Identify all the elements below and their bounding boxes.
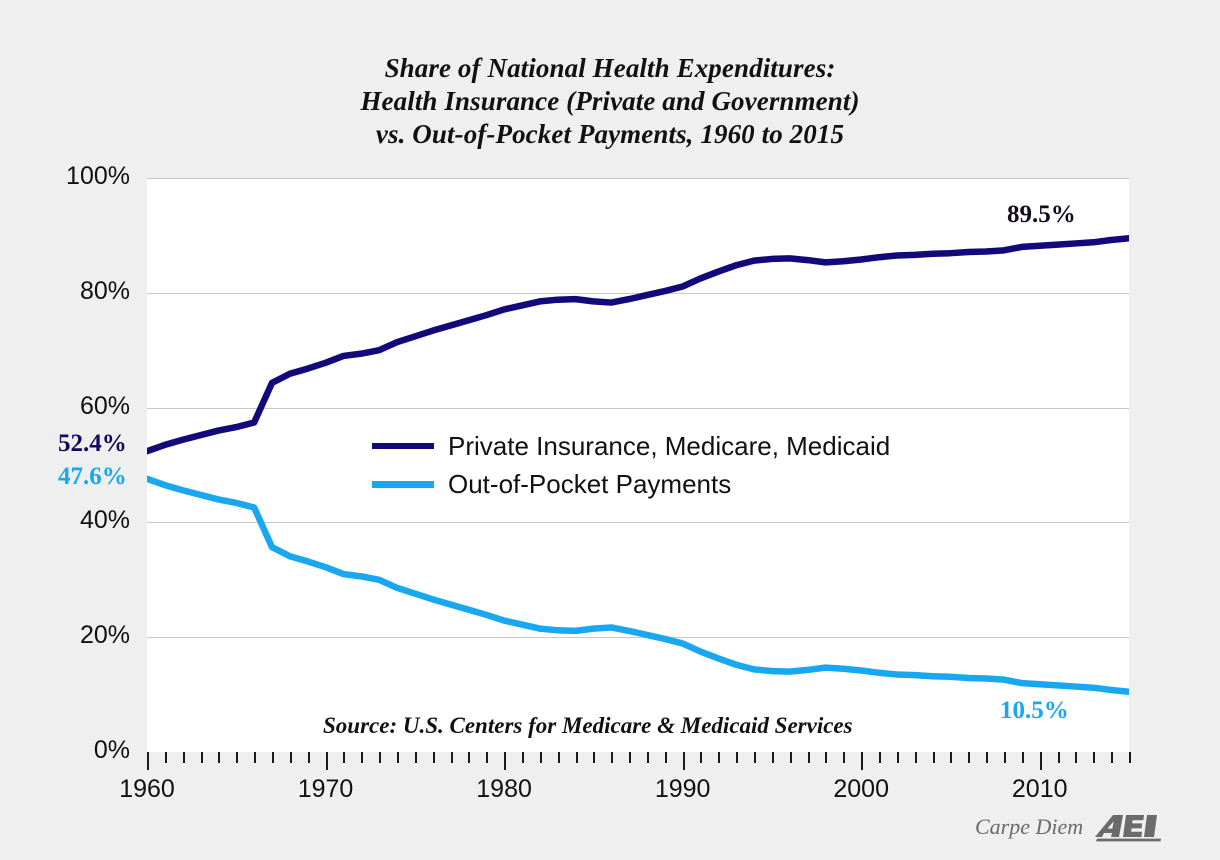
aei-logo-icon — [1095, 812, 1165, 842]
x-tick-minor — [772, 752, 774, 763]
x-tick-minor — [558, 752, 560, 763]
annotation-start-cyan: 47.6% — [58, 463, 127, 491]
line-out-of-pocket-payments — [147, 479, 1129, 692]
x-tick-minor — [379, 752, 381, 763]
x-tick-minor — [718, 752, 720, 763]
line-private-insurance-medicare-medicaid — [147, 238, 1129, 451]
x-tick-minor — [433, 752, 435, 763]
x-tick-minor — [468, 752, 470, 763]
y-tick-label: 100% — [10, 162, 130, 191]
x-tick-minor — [1111, 752, 1113, 763]
x-tick-minor — [1129, 752, 1131, 763]
x-tick-minor — [1022, 752, 1024, 763]
x-tick-minor — [1058, 752, 1060, 763]
x-tick-minor — [611, 752, 613, 763]
x-tick-minor — [254, 752, 256, 763]
x-tick-minor — [754, 752, 756, 763]
y-tick-label: 80% — [10, 277, 130, 306]
x-tick-minor — [218, 752, 220, 763]
x-tick-minor — [629, 752, 631, 763]
brand-footer: Carpe Diem — [975, 812, 1165, 842]
x-tick-minor — [343, 752, 345, 763]
annotation-end-cyan: 10.5% — [1000, 697, 1069, 725]
x-tick-minor — [736, 752, 738, 763]
x-tick-major — [1040, 752, 1042, 770]
x-tick-minor — [486, 752, 488, 763]
x-tick-label: 1990 — [623, 775, 743, 804]
x-tick-minor — [700, 752, 702, 763]
annotation-end-navy: 89.5% — [1007, 201, 1076, 229]
x-tick-minor — [665, 752, 667, 763]
x-tick-minor — [522, 752, 524, 763]
x-tick-minor — [1093, 752, 1095, 763]
x-tick-label: 1960 — [87, 775, 207, 804]
x-tick-minor — [397, 752, 399, 763]
x-tick-minor — [933, 752, 935, 763]
x-tick-minor — [879, 752, 881, 763]
chart-title-line-2: Health Insurance (Private and Government… — [0, 85, 1220, 118]
x-tick-minor — [272, 752, 274, 763]
x-tick-minor — [1075, 752, 1077, 763]
x-tick-label: 1980 — [444, 775, 564, 804]
x-tick-major — [504, 752, 506, 770]
y-tick-label: 20% — [10, 621, 130, 650]
x-tick-minor — [415, 752, 417, 763]
legend-item-out-of-pocket: Out-of-Pocket Payments — [372, 465, 890, 503]
x-tick-label: 1970 — [266, 775, 386, 804]
y-tick-label: 60% — [10, 392, 130, 421]
x-tick-minor — [165, 752, 167, 763]
x-tick-minor — [790, 752, 792, 763]
x-tick-major — [326, 752, 328, 770]
x-tick-minor — [308, 752, 310, 763]
x-tick-minor — [897, 752, 899, 763]
legend-label-private-insurance: Private Insurance, Medicare, Medicaid — [448, 431, 890, 462]
x-tick-minor — [915, 752, 917, 763]
x-axis-ticks — [147, 752, 1129, 772]
x-tick-minor — [950, 752, 952, 763]
x-tick-major — [861, 752, 863, 770]
x-tick-minor — [825, 752, 827, 763]
x-tick-minor — [647, 752, 649, 763]
x-tick-minor — [290, 752, 292, 763]
chart-title-line-3: vs. Out-of-Pocket Payments, 1960 to 2015 — [0, 118, 1220, 151]
x-tick-minor — [540, 752, 542, 763]
x-tick-minor — [1004, 752, 1006, 763]
legend: Private Insurance, Medicare, Medicaid Ou… — [372, 427, 890, 503]
x-tick-minor — [183, 752, 185, 763]
x-tick-major — [683, 752, 685, 770]
x-tick-minor — [843, 752, 845, 763]
x-tick-label: 2010 — [980, 775, 1100, 804]
source-note: Source: U.S. Centers for Medicare & Medi… — [323, 713, 853, 739]
legend-swatch-navy-icon — [372, 443, 434, 449]
x-tick-major — [147, 752, 149, 770]
brand-name: Carpe Diem — [975, 814, 1083, 840]
x-tick-minor — [968, 752, 970, 763]
legend-swatch-cyan-icon — [372, 481, 434, 488]
x-tick-minor — [593, 752, 595, 763]
x-tick-minor — [201, 752, 203, 763]
chart-title: Share of National Health Expenditures: H… — [0, 52, 1220, 151]
chart-title-line-1: Share of National Health Expenditures: — [0, 52, 1220, 85]
y-tick-label: 0% — [10, 736, 130, 765]
legend-label-out-of-pocket: Out-of-Pocket Payments — [448, 469, 731, 500]
legend-item-private-insurance: Private Insurance, Medicare, Medicaid — [372, 427, 890, 465]
x-tick-minor — [451, 752, 453, 763]
annotation-start-navy: 52.4% — [58, 430, 127, 458]
x-tick-minor — [576, 752, 578, 763]
x-tick-minor — [361, 752, 363, 763]
x-tick-minor — [986, 752, 988, 763]
x-tick-label: 2000 — [801, 775, 921, 804]
x-tick-minor — [808, 752, 810, 763]
chart-figure: Share of National Health Expenditures: H… — [0, 0, 1220, 860]
x-tick-minor — [236, 752, 238, 763]
y-tick-label: 40% — [10, 506, 130, 535]
